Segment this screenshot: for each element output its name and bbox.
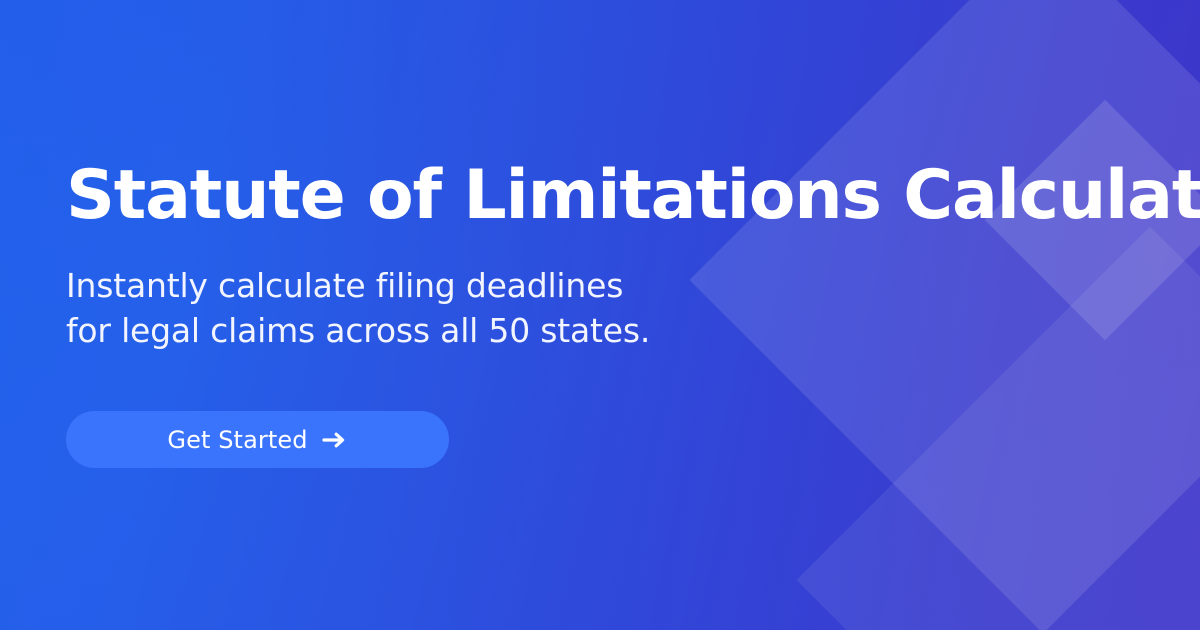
og-hero-card: Statute of Limitations Calculator Instan… [0,0,1200,630]
hero-content: Statute of Limitations Calculator Instan… [66,0,1156,630]
hero-subtitle: Instantly calculate filing deadlines for… [66,264,1156,354]
hero-subtitle-line-2: for legal claims across all 50 states. [66,309,1156,354]
arrow-right-icon [322,430,348,450]
get-started-button-label: Get Started [167,426,307,454]
hero-subtitle-line-1: Instantly calculate filing deadlines [66,264,1156,309]
page-title: Statute of Limitations Calculator [66,162,1156,230]
get-started-button[interactable]: Get Started [66,411,449,468]
